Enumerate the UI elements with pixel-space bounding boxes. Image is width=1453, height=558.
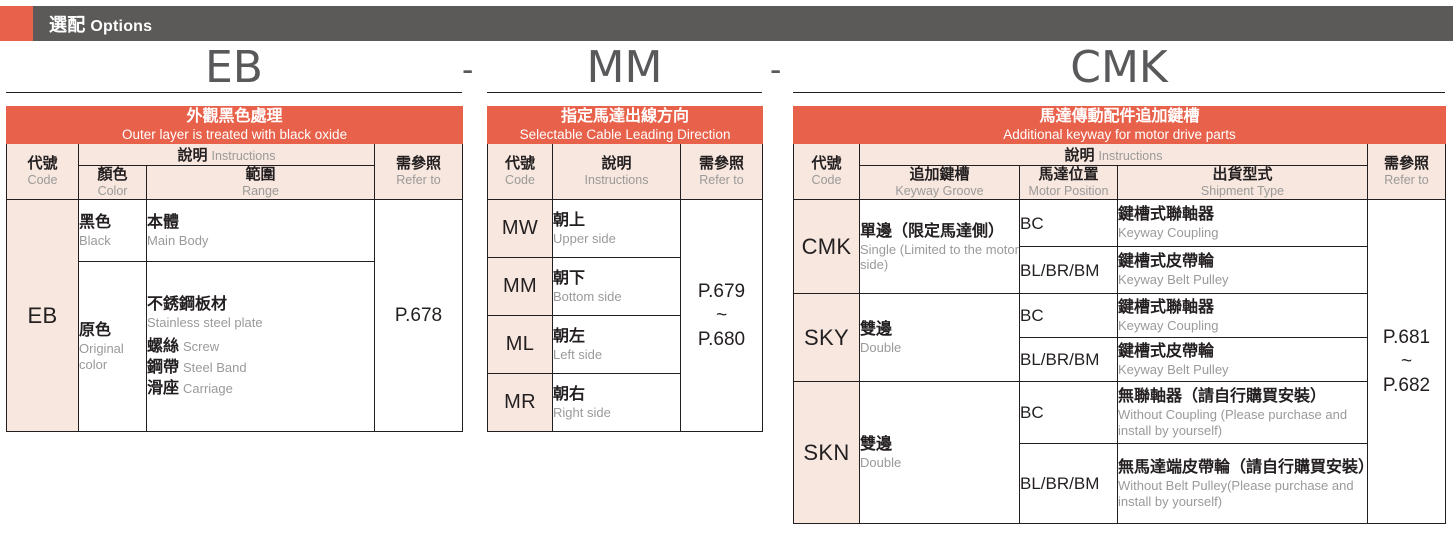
table-mm-code-2: ML (488, 316, 553, 374)
table-mm-refer-line-2: P.680 (681, 328, 762, 352)
table-row: SKY 雙邊 Double BC 鍵槽式聯軸器 Keyway Coupling (794, 294, 1446, 338)
table-eb-range-1-item0-zh: 不銹鋼板材 (147, 295, 374, 315)
table-cmk-pos-0-1: BL/BR/BM (1020, 247, 1118, 294)
table-cmk-code-0: CMK (794, 200, 860, 294)
table-cmk-ship-2-1: 無馬達端皮帶輪（請自行購買安裝） Without Belt Pulley(Ple… (1118, 444, 1368, 524)
table-mm-desc-0: 朝上 Upper side (553, 200, 681, 258)
table-eb-col-range-zh: 範圍 (147, 166, 374, 184)
table-cmk-ship-0-0: 鍵槽式聯軸器 Keyway Coupling (1118, 200, 1368, 247)
table-cmk-header-row-1: 代號 Code 說明Instructions 需參照 Refer to (794, 144, 1446, 166)
table-eb-color-1: 原色 Original color (79, 262, 147, 432)
code-title-eb-text: EB (6, 44, 462, 92)
table-eb-header-row-1: 代號 Code 說明Instructions 需參照 Refer to (7, 144, 463, 166)
table-cmk-col-code: 代號 Code (794, 144, 860, 200)
table-eb-col-color: 顏色 Color (79, 166, 147, 200)
table-cmk-pos-2-1: BL/BR/BM (1020, 444, 1118, 524)
table-cmk-refer-line-0: P.681 (1368, 326, 1445, 350)
table-eb-col-range-en: Range (147, 184, 374, 199)
table-eb-range-1: 不銹鋼板材 Stainless steel plate 螺絲Screw 鋼帶St… (147, 262, 375, 432)
table-eb-range-0-en: Main Body (147, 233, 374, 249)
table-cmk-ship-1-0-zh: 鍵槽式聯軸器 (1118, 298, 1367, 318)
table-mm-refer-value: P.679 ~ P.680 (681, 200, 763, 432)
table-cmk-refer-line-1: ~ (1368, 350, 1445, 374)
table-cmk-title-row: 馬達傳動配件追加鍵槽 Additional keyway for motor d… (794, 107, 1446, 144)
table-eb-col-color-zh: 顏色 (79, 166, 146, 184)
table-cmk-title-en: Additional keyway for motor drive parts (794, 126, 1445, 143)
code-titles-row: EB - MM - CMK (0, 44, 1453, 94)
table-mm-desc-1-en: Bottom side (553, 289, 680, 305)
separator-dash-2: - (770, 46, 781, 94)
table-eb-range-1-item3-zh: 滑座 (147, 380, 179, 397)
table-cmk-col-keyway-en: Keyway Groove (860, 184, 1019, 199)
table-eb-color-1-zh: 原色 (79, 321, 146, 341)
table-cmk-ship-1-1: 鍵槽式皮帶輪 Keyway Belt Pulley (1118, 338, 1368, 382)
table-mm-code-1: MM (488, 258, 553, 316)
table-mm-col-code: 代號 Code (488, 144, 553, 200)
table-eb-title-row: 外觀黑色處理 Outer layer is treated with black… (7, 107, 463, 144)
table-eb-col-refer-en: Refer to (375, 173, 462, 188)
table-eb-range-1-item1: 螺絲Screw (147, 337, 374, 357)
table-cmk-col-instructions-zh: 說明 (1065, 147, 1095, 164)
table-eb-col-refer: 需參照 Refer to (375, 144, 463, 200)
code-title-mm: MM (487, 44, 762, 93)
page-title-en: Options (85, 18, 152, 35)
table-mm-code-3: MR (488, 374, 553, 432)
table-cmk-ship-1-1-zh: 鍵槽式皮帶輪 (1118, 342, 1367, 362)
table-cmk-col-shipment-en: Shipment Type (1118, 184, 1367, 199)
table-cmk-ship-0-0-zh: 鍵槽式聯軸器 (1118, 205, 1367, 225)
table-eb-color-0: 黑色 Black (79, 200, 147, 262)
table-cmk-refer-line-2: P.682 (1368, 374, 1445, 398)
options-page: 選配Options EB - MM - CMK 外觀黑色處理 Ou (0, 0, 1453, 558)
table-cmk-col-refer-en: Refer to (1368, 173, 1445, 188)
accent-swatch (0, 6, 33, 41)
table-mm-col-instructions: 說明 Instructions (553, 144, 681, 200)
table-eb-title-en: Outer layer is treated with black oxide (7, 126, 462, 143)
table-cmk-ship-2-0-en: Without Coupling (Please purchase and in… (1118, 407, 1367, 439)
table-cmk-ship-1-1-en: Keyway Belt Pulley (1118, 362, 1367, 378)
table-eb-col-code-zh: 代號 (7, 155, 78, 173)
table-cmk-col-refer: 需參照 Refer to (1368, 144, 1446, 200)
table-mm-title-row: 指定馬達出線方向 Selectable Cable Leading Direct… (488, 107, 763, 144)
table-cmk-col-motor-position-zh: 馬達位置 (1020, 166, 1117, 184)
table-eb-range-1-item0-en: Stainless steel plate (147, 315, 374, 331)
table-cmk-title: 馬達傳動配件追加鍵槽 Additional keyway for motor d… (794, 107, 1446, 144)
table-cmk-ship-2-1-zh: 無馬達端皮帶輪（請自行購買安裝） (1118, 458, 1367, 478)
page-title: 選配Options (49, 11, 152, 37)
table-eb-col-instructions-en: Instructions (208, 149, 276, 163)
table-mm-refer-line-0: P.679 (681, 280, 762, 304)
table-cmk-col-shipment: 出貨型式 Shipment Type (1118, 166, 1368, 200)
table-eb-col-code: 代號 Code (7, 144, 79, 200)
table-mm: 指定馬達出線方向 Selectable Cable Leading Direct… (487, 106, 763, 432)
table-cmk-keyway-0: 單邊（限定馬達側） Single (Limited to the motor s… (860, 200, 1020, 294)
table-eb-range-1-item1-en: Screw (179, 339, 219, 354)
table-mm-desc-2-en: Left side (553, 347, 680, 363)
table-row: CMK 單邊（限定馬達側） Single (Limited to the mot… (794, 200, 1446, 247)
code-title-eb: EB (6, 44, 462, 93)
table-eb-col-instructions: 說明Instructions (79, 144, 375, 166)
options-title-strip: 選配Options (33, 6, 1453, 41)
table-cmk-col-motor-position: 馬達位置 Motor Position (1020, 166, 1118, 200)
table-cmk-col-code-zh: 代號 (794, 155, 859, 173)
table-mm-refer-line-1: ~ (681, 304, 762, 328)
options-header-bar: 選配Options (0, 6, 1453, 41)
table-mm-col-refer-en: Refer to (681, 173, 762, 188)
table-row: EB 黑色 Black 本體 Main Body P.678 (7, 200, 463, 262)
table-mm-col-instructions-en: Instructions (553, 173, 680, 188)
table-eb-title-zh: 外觀黑色處理 (7, 107, 462, 126)
table-cmk-col-shipment-zh: 出貨型式 (1118, 166, 1367, 184)
table-cmk-ship-1-0-en: Keyway Coupling (1118, 318, 1367, 334)
table-cmk-ship-0-1-en: Keyway Belt Pulley (1118, 272, 1367, 288)
table-cmk-refer-value: P.681 ~ P.682 (1368, 200, 1446, 524)
table-eb-color-0-en: Black (79, 233, 146, 249)
table-cmk-keyway-0-zh: 單邊（限定馬達側） (860, 223, 1004, 240)
table-eb-color-1-en: Original color (79, 341, 146, 373)
table-cmk-col-motor-position-en: Motor Position (1020, 184, 1117, 199)
separator-dash-1: - (462, 46, 473, 94)
table-mm-desc-0-zh: 朝上 (553, 211, 680, 231)
table-cmk-keyway-2-zh: 雙邊 (860, 435, 1019, 455)
table-cmk-title-zh: 馬達傳動配件追加鍵槽 (794, 107, 1445, 126)
table-cmk-col-keyway-zh: 追加鍵槽 (860, 166, 1019, 184)
table-eb-col-color-en: Color (79, 184, 146, 199)
table-cmk-col-instructions-en: Instructions (1095, 149, 1163, 163)
table-cmk-ship-1-0: 鍵槽式聯軸器 Keyway Coupling (1118, 294, 1368, 338)
table-eb-col-refer-zh: 需參照 (375, 155, 462, 173)
table-eb-range-1-item3: 滑座Carriage (147, 379, 374, 399)
table-cmk-pos-1-1: BL/BR/BM (1020, 338, 1118, 382)
code-title-mm-text: MM (487, 44, 762, 92)
table-cmk-code-1: SKY (794, 294, 860, 382)
table-cmk-pos-1-0: BC (1020, 294, 1118, 338)
table-cmk-keyway-0-en: Single (Limited to the motor side) (860, 242, 1019, 272)
table-cmk-keyway-2-en: Double (860, 455, 1019, 471)
table-eb-range-1-item2: 鋼帶Steel Band (147, 358, 374, 378)
table-mm-col-instructions-zh: 說明 (553, 155, 680, 173)
table-mm-desc-0-en: Upper side (553, 231, 680, 247)
table-cmk-code-2: SKN (794, 382, 860, 524)
table-eb-range-1-item3-en: Carriage (179, 381, 233, 396)
table-mm-title-zh: 指定馬達出線方向 (488, 107, 762, 126)
table-cmk-keyway-1: 雙邊 Double (860, 294, 1020, 382)
table-row: SKN 雙邊 Double BC 無聯軸器（請自行購買安裝） Without C… (794, 382, 1446, 444)
table-eb: 外觀黑色處理 Outer layer is treated with black… (6, 106, 463, 432)
table-eb-title: 外觀黑色處理 Outer layer is treated with black… (7, 107, 463, 144)
table-eb-range-1-item2-zh: 鋼帶 (147, 359, 179, 376)
table-eb-range-1-item2-en: Steel Band (179, 360, 247, 375)
table-mm-col-refer-zh: 需參照 (681, 155, 762, 173)
table-eb-range-0-zh: 本體 (147, 213, 374, 233)
table-cmk-col-refer-zh: 需參照 (1368, 155, 1445, 173)
table-cmk-ship-2-1-en: Without Belt Pulley(Please purchase and … (1118, 478, 1367, 510)
table-mm-desc-2-zh: 朝左 (553, 327, 680, 347)
table-mm-desc-1-zh: 朝下 (553, 269, 680, 289)
table-mm-col-refer: 需參照 Refer to (681, 144, 763, 200)
table-eb-range-1-item1-zh: 螺絲 (147, 338, 179, 355)
code-title-cmk-text: CMK (793, 44, 1445, 92)
table-eb-col-instructions-zh: 說明 (178, 147, 208, 164)
table-eb-code-value: EB (7, 200, 79, 432)
table-eb-col-range: 範圍 Range (147, 166, 375, 200)
table-cmk-keyway-2: 雙邊 Double (860, 382, 1020, 524)
table-eb-color-0-zh: 黑色 (79, 213, 146, 233)
table-cmk-ship-0-1: 鍵槽式皮帶輪 Keyway Belt Pulley (1118, 247, 1368, 294)
table-cmk-ship-0-1-zh: 鍵槽式皮帶輪 (1118, 252, 1367, 272)
code-title-cmk: CMK (793, 44, 1445, 93)
table-eb-col-code-en: Code (7, 173, 78, 188)
table-row: MW 朝上 Upper side P.679 ~ P.680 (488, 200, 763, 258)
table-mm-desc-3-zh: 朝右 (553, 385, 680, 405)
table-cmk-keyway-1-en: Double (860, 340, 1019, 356)
table-mm-title-en: Selectable Cable Leading Direction (488, 126, 762, 143)
table-mm-header-row: 代號 Code 說明 Instructions 需參照 Refer to (488, 144, 763, 200)
table-cmk-ship-2-0-zh: 無聯軸器（請自行購買安裝） (1118, 387, 1367, 407)
table-mm-desc-3: 朝右 Right side (553, 374, 681, 432)
table-mm-title: 指定馬達出線方向 Selectable Cable Leading Direct… (488, 107, 763, 144)
table-mm-desc-2: 朝左 Left side (553, 316, 681, 374)
table-cmk-ship-2-0: 無聯軸器（請自行購買安裝） Without Coupling (Please p… (1118, 382, 1368, 444)
table-mm-desc-3-en: Right side (553, 405, 680, 421)
table-mm-col-code-en: Code (488, 173, 552, 188)
table-mm-code-0: MW (488, 200, 553, 258)
table-cmk-col-instructions: 說明Instructions (860, 144, 1368, 166)
table-mm-col-code-zh: 代號 (488, 155, 552, 173)
table-cmk: 馬達傳動配件追加鍵槽 Additional keyway for motor d… (793, 106, 1446, 524)
table-cmk-col-code-en: Code (794, 173, 859, 188)
page-title-zh: 選配 (49, 15, 85, 35)
table-cmk-header-row-2: 追加鍵槽 Keyway Groove 馬達位置 Motor Position 出… (794, 166, 1446, 200)
table-cmk-keyway-1-zh: 雙邊 (860, 320, 1019, 340)
table-mm-desc-1: 朝下 Bottom side (553, 258, 681, 316)
table-cmk-pos-0-0: BC (1020, 200, 1118, 247)
table-eb-range-0: 本體 Main Body (147, 200, 375, 262)
table-cmk-pos-2-0: BC (1020, 382, 1118, 444)
table-cmk-ship-0-0-en: Keyway Coupling (1118, 225, 1367, 241)
table-cmk-col-keyway: 追加鍵槽 Keyway Groove (860, 166, 1020, 200)
table-eb-refer-value: P.678 (375, 200, 463, 432)
